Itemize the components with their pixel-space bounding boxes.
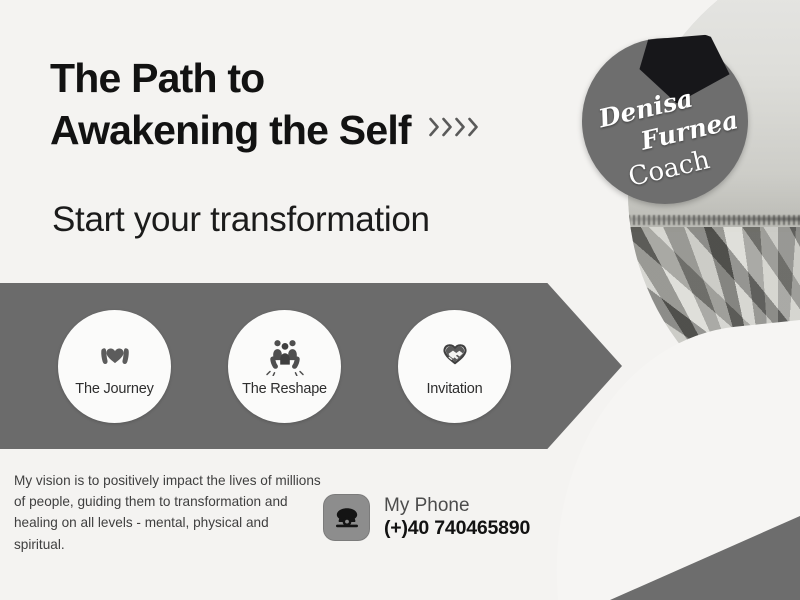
phone-label: My Phone	[384, 495, 530, 517]
hands-holding-heart-icon	[94, 336, 136, 378]
feature-label: The Journey	[75, 381, 153, 397]
badge-text-group: Denisa Furnea Coach	[582, 38, 748, 204]
headline-line-2: Awakening the Self	[50, 104, 411, 156]
subtitle: Start your transformation	[52, 200, 430, 240]
hands-holding-people-icon	[264, 336, 306, 378]
chevron-group	[429, 117, 479, 137]
feature-label: The Reshape	[242, 381, 327, 397]
contact-phone-block[interactable]: My Phone (+)40 740465890	[323, 494, 530, 541]
photo-horizon	[628, 217, 800, 221]
feature-list: The Journey	[0, 283, 622, 449]
badge-role: Coach	[626, 145, 713, 193]
feature-label: Invitation	[426, 381, 482, 397]
feature-item-invitation[interactable]: Invitation	[398, 310, 511, 423]
chevron-right-icon	[468, 117, 479, 137]
poster-canvas: Denisa Furnea Coach The Path to Awakenin…	[0, 0, 800, 600]
chevron-right-icon	[455, 117, 466, 137]
feature-item-the-journey[interactable]: The Journey	[58, 310, 171, 423]
coach-badge: Denisa Furnea Coach	[582, 38, 748, 204]
feature-item-the-reshape[interactable]: The Reshape	[228, 310, 341, 423]
phone-number: (+)40 740465890	[384, 517, 530, 540]
headline-line-2-row: Awakening the Self	[50, 104, 610, 156]
headline-block: The Path to Awakening the Self	[50, 52, 610, 157]
headline-line-1: The Path to	[50, 52, 610, 104]
telephone-icon	[323, 494, 370, 541]
vision-statement: My vision is to positively impact the li…	[14, 470, 322, 555]
chevron-right-icon	[429, 117, 440, 137]
contact-phone-text: My Phone (+)40 740465890	[384, 495, 530, 540]
chevron-right-icon	[442, 117, 453, 137]
handshake-in-heart-icon	[434, 336, 476, 378]
